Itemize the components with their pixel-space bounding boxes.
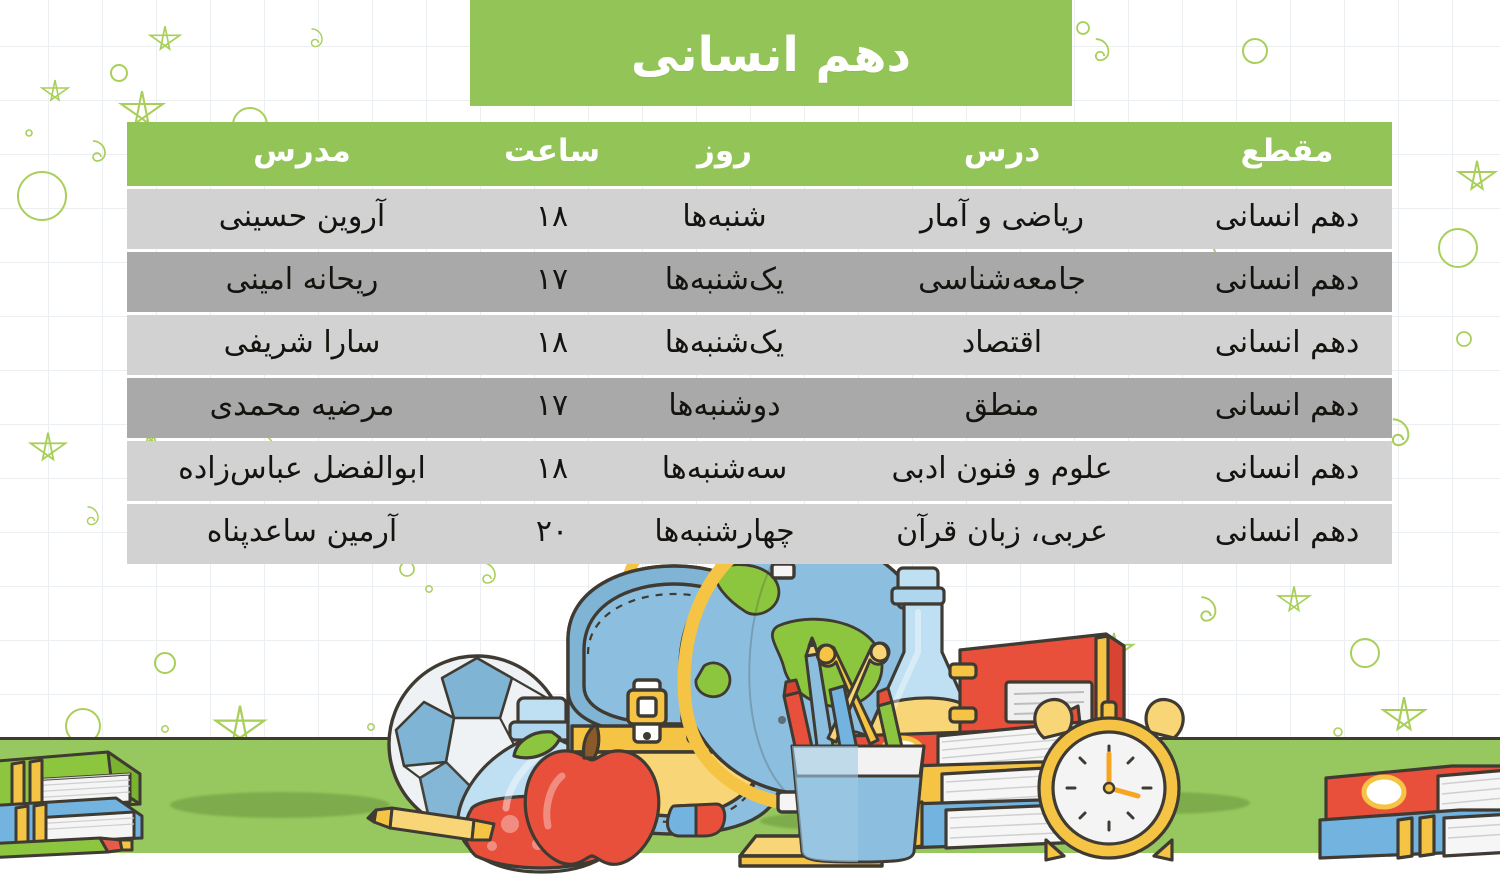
column-header-course: درس <box>822 122 1182 186</box>
table-header-row: مقطع درس روز ساعت مدرس <box>127 122 1392 186</box>
circle-doodle-icon <box>1075 20 1091 36</box>
cell-level: دهم انسانی <box>1182 378 1392 438</box>
cell-teacher: مرضیه محمدی <box>127 378 477 438</box>
column-header-level: مقطع <box>1182 122 1392 186</box>
circle-doodle-icon <box>108 62 130 84</box>
cell-day: سه‌شنبه‌ها <box>627 441 822 501</box>
circle-doodle-icon <box>1240 36 1270 66</box>
cell-hour: ۱۸ <box>477 441 627 501</box>
cell-course: ریاضی و آمار <box>822 189 1182 249</box>
page-title: دهم انسانی <box>631 31 911 79</box>
pencil-icon <box>370 796 500 850</box>
table-row: دهم انسانی علوم و فنون ادبی سه‌شنبه‌ها ۱… <box>127 441 1392 501</box>
column-header-day: روز <box>627 122 822 186</box>
table-row: دهم انسانی منطق دوشنبه‌ها ۱۷ مرضیه محمدی <box>127 378 1392 438</box>
cell-course: منطق <box>822 378 1182 438</box>
cell-level: دهم انسانی <box>1182 441 1392 501</box>
cell-teacher: آروین حسینی <box>127 189 477 249</box>
cell-hour: ۱۷ <box>477 252 627 312</box>
cell-hour: ۱۸ <box>477 315 627 375</box>
circle-doodle-icon <box>24 128 34 138</box>
cell-level: دهم انسانی <box>1182 252 1392 312</box>
cell-course: اقتصاد <box>822 315 1182 375</box>
page-title-banner: دهم انسانی <box>470 0 1072 106</box>
table-row: دهم انسانی عربی، زبان قرآن چهارشنبه‌ها ۲… <box>127 504 1392 564</box>
cell-course: علوم و فنون ادبی <box>822 441 1182 501</box>
table-row: دهم انسانی اقتصاد یک‌شنبه‌ها ۱۸ سارا شری… <box>127 315 1392 375</box>
cell-hour: ۱۷ <box>477 378 627 438</box>
circle-doodle-icon <box>1436 226 1480 270</box>
cell-hour: ۱۸ <box>477 189 627 249</box>
book-stack-left-icon <box>0 728 200 863</box>
cell-course: عربی، زبان قرآن <box>822 504 1182 564</box>
book-stack-right-icon <box>1320 732 1500 862</box>
spiral-doodle-icon <box>1082 38 1118 74</box>
cell-level: دهم انسانی <box>1182 315 1392 375</box>
star-doodle-icon <box>28 430 68 470</box>
spiral-doodle-icon <box>80 140 114 174</box>
spiral-doodle-icon <box>300 28 330 58</box>
table-row: دهم انسانی جامعه‌شناسی یک‌شنبه‌ها ۱۷ ریح… <box>127 252 1392 312</box>
column-header-teacher: مدرس <box>127 122 477 186</box>
column-header-hour: ساعت <box>477 122 627 186</box>
class-schedule-table: مقطع درس روز ساعت مدرس دهم انسانی ریاضی … <box>127 119 1392 567</box>
cell-teacher: ریحانه امینی <box>127 252 477 312</box>
pencil-cup-icon <box>778 624 938 864</box>
cell-day: چهارشنبه‌ها <box>627 504 822 564</box>
cell-level: دهم انسانی <box>1182 189 1392 249</box>
circle-doodle-icon <box>14 168 70 224</box>
cell-day: شنبه‌ها <box>627 189 822 249</box>
star-doodle-icon <box>1456 158 1498 200</box>
cell-teacher: آرمین ساعدپناه <box>127 504 477 564</box>
table-row: دهم انسانی ریاضی و آمار شنبه‌ها ۱۸ آروین… <box>127 189 1392 249</box>
table-body: دهم انسانی ریاضی و آمار شنبه‌ها ۱۸ آروین… <box>127 189 1392 564</box>
cell-course: جامعه‌شناسی <box>822 252 1182 312</box>
eraser-icon <box>664 796 728 842</box>
star-doodle-icon <box>40 78 70 108</box>
cell-hour: ۲۰ <box>477 504 627 564</box>
circle-doodle-icon <box>1455 330 1473 348</box>
cell-day: یک‌شنبه‌ها <box>627 315 822 375</box>
alarm-clock-icon <box>1016 696 1206 866</box>
table-header: مقطع درس روز ساعت مدرس <box>127 122 1392 186</box>
cell-teacher: سارا شریفی <box>127 315 477 375</box>
cell-level: دهم انسانی <box>1182 504 1392 564</box>
star-doodle-icon <box>148 24 182 58</box>
cell-day: دوشنبه‌ها <box>627 378 822 438</box>
cell-teacher: ابوالفضل عباس‌زاده <box>127 441 477 501</box>
cell-day: یک‌شنبه‌ها <box>627 252 822 312</box>
